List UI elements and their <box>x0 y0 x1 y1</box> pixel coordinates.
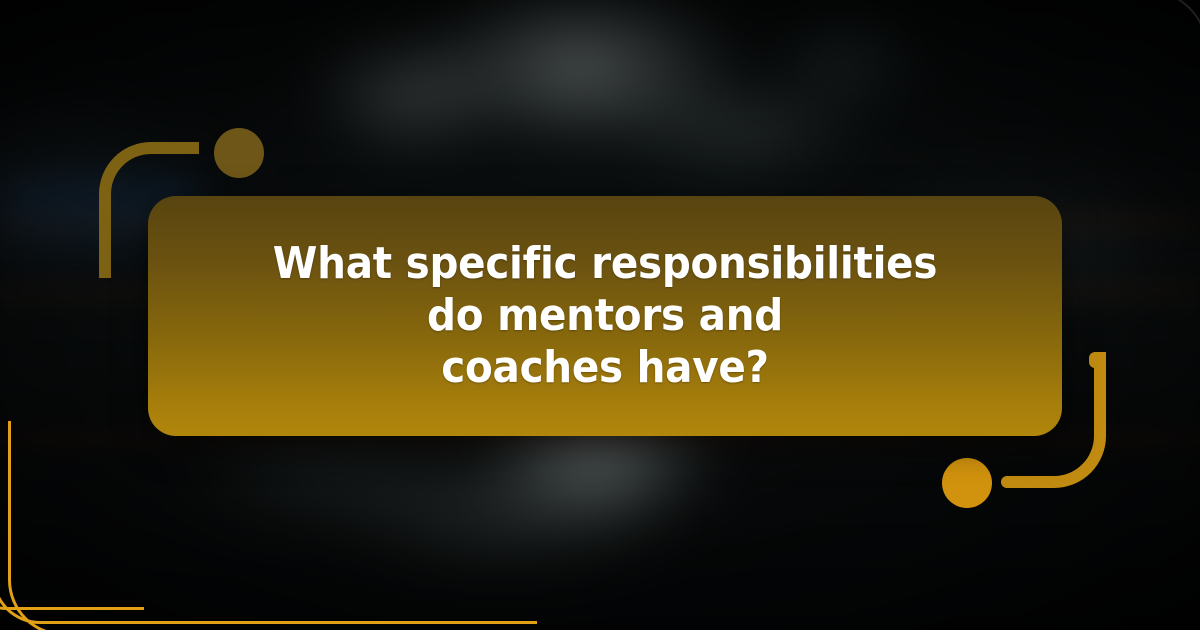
corner-line-top-right-3 <box>1030 0 1200 138</box>
bracket-top-left-cap-v <box>99 262 111 278</box>
bracket-top-left-cap-h <box>183 142 199 154</box>
question-text: What specific responsibilities do mentor… <box>185 238 1026 394</box>
bracket-bottom-right-cap-h <box>1001 476 1017 488</box>
dot-top-left-icon <box>214 128 264 178</box>
dot-bottom-right-icon <box>942 458 992 508</box>
bracket-bottom-right-cap-v <box>1089 352 1101 368</box>
corner-line-bottom-left-3 <box>0 512 144 610</box>
question-card: What specific responsibilities do mentor… <box>148 196 1062 436</box>
poster-canvas: What specific responsibilities do mentor… <box>0 0 1200 630</box>
